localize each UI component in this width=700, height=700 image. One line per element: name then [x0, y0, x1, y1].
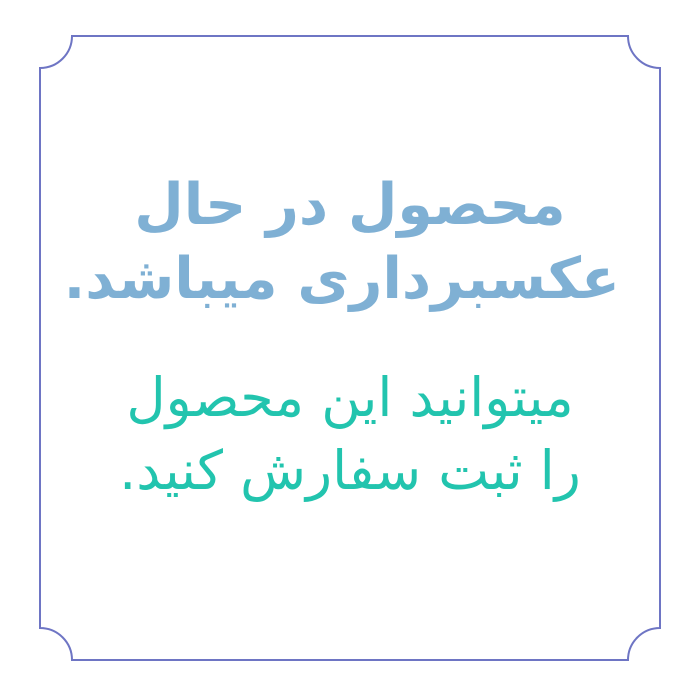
order-message-line-1: میتوانید این محصول — [80, 362, 620, 434]
status-message: محصول در حال عکسبرداری میباشد. — [80, 168, 620, 316]
status-message-line-1: محصول در حال — [80, 168, 620, 242]
order-message-block: میتوانید این محصول را ثبت سفارش کنید. — [80, 316, 620, 507]
message-stack: محصول در حال عکسبرداری میباشد. میتوانید … — [0, 168, 700, 507]
status-message-block: محصول در حال عکسبرداری میباشد. — [80, 168, 620, 316]
order-message: میتوانید این محصول را ثبت سفارش کنید. — [80, 362, 620, 507]
status-message-line-2: عکسبرداری میباشد. — [80, 242, 620, 316]
product-image-placeholder-card: محصول در حال عکسبرداری میباشد. میتوانید … — [0, 0, 700, 700]
order-message-line-2: را ثبت سفارش کنید. — [80, 435, 620, 507]
